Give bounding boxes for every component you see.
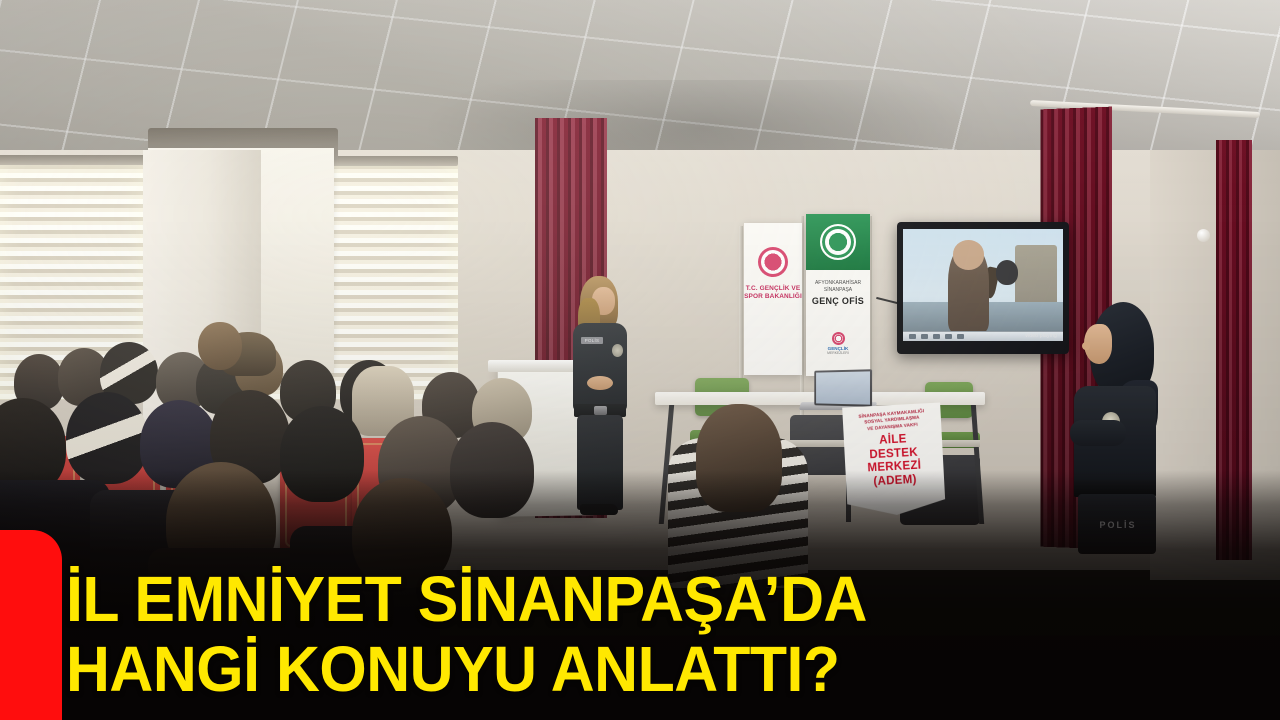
banner-green-sub1: AFYONKARAHİSAR xyxy=(806,280,870,287)
wall-fixture xyxy=(1197,229,1210,242)
headline-line-1: İL EMNİYET SİNANPAŞA’DA xyxy=(66,564,1200,634)
officer2-crossed-arms xyxy=(1070,420,1126,446)
banner-ministry-line1: T.C. GENÇLİK VE xyxy=(744,285,802,293)
curtain-right-edge xyxy=(1216,140,1252,560)
audience-head-scarf xyxy=(280,406,364,502)
banner-ministry-line2: SPOR BAKANLIĞI xyxy=(744,293,802,301)
smartboard-screen: video playing xyxy=(903,229,1063,341)
smartboard-display: video playing xyxy=(897,222,1069,354)
headline-line-2: HANGİ KONUYU ANLATTI? xyxy=(66,634,1200,704)
headline: İL EMNİYET SİNANPAŞA’DA HANGİ KONUYU ANL… xyxy=(66,564,1200,704)
police-officer-observer: POLİS xyxy=(1062,302,1170,552)
blinds-headrail-left xyxy=(0,155,148,165)
video-structure xyxy=(1015,245,1057,308)
audience-head-scarf xyxy=(66,392,148,484)
audience-head-man xyxy=(198,322,242,370)
banner-green-sub2: SİNANPAŞA xyxy=(806,287,870,294)
banner-green-sub: AFYONKARAHİSAR SİNANPAŞA xyxy=(806,280,870,294)
genc-ofis-emblem-icon xyxy=(820,224,856,260)
video-person xyxy=(948,245,990,332)
audience-head-scarf xyxy=(450,422,534,518)
officer2-polis-label: POLİS xyxy=(1082,520,1154,530)
officer2-profile xyxy=(1082,342,1090,350)
banner-ministry-text: T.C. GENÇLİK VE SPOR BAKANLIĞI xyxy=(744,285,802,301)
adem-sign: SİNANPAŞA KAYMAKAMLIĞI SOSYAL YARDIMLAŞM… xyxy=(842,403,946,518)
adem-sign-header: SİNANPAŞA KAYMAKAMLIĞI SOSYAL YARDIMLAŞM… xyxy=(845,407,938,434)
banner-green-header xyxy=(806,214,870,270)
ministry-emblem-icon xyxy=(758,247,788,277)
adem-sign-title: AİLE DESTEK MERKEZİ (ADEM) xyxy=(847,432,942,491)
smartboard-status-label: video playing xyxy=(1025,333,1057,339)
audience-head xyxy=(696,404,782,512)
video-object-1 xyxy=(996,260,1018,285)
red-accent-bar xyxy=(0,530,62,720)
banner-green-main: GENÇ OFİS xyxy=(806,296,870,306)
news-thumbnail: video playing T.C. GENÇLİK VE SPOR BAKAN… xyxy=(0,0,1280,720)
